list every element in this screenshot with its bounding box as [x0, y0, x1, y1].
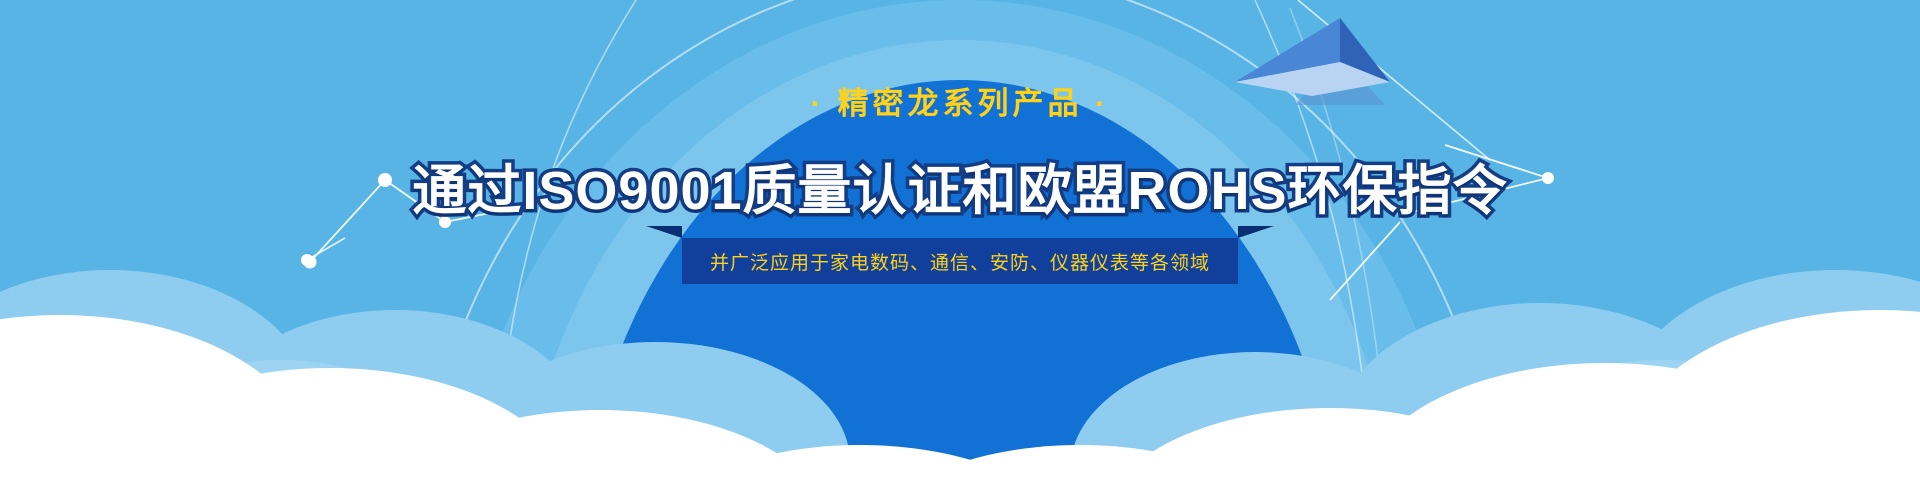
promo-banner: · 精密龙系列产品 · 通过ISO9001质量认证和欧盟ROHS环保指令 并广泛…: [0, 0, 1920, 480]
subtitle-ribbon: 并广泛应用于家电数码、通信、安防、仪器仪表等各领域: [682, 238, 1238, 284]
ribbon-fold-left: [646, 226, 682, 238]
subtitle-text: 并广泛应用于家电数码、通信、安防、仪器仪表等各领域: [710, 248, 1210, 275]
page-title: 通过ISO9001质量认证和欧盟ROHS环保指令: [0, 146, 1920, 225]
banner-content: · 精密龙系列产品 · 通过ISO9001质量认证和欧盟ROHS环保指令 并广泛…: [0, 0, 1920, 480]
ribbon-fold-right: [1238, 226, 1274, 238]
eyebrow-text: · 精密龙系列产品 ·: [0, 78, 1920, 123]
